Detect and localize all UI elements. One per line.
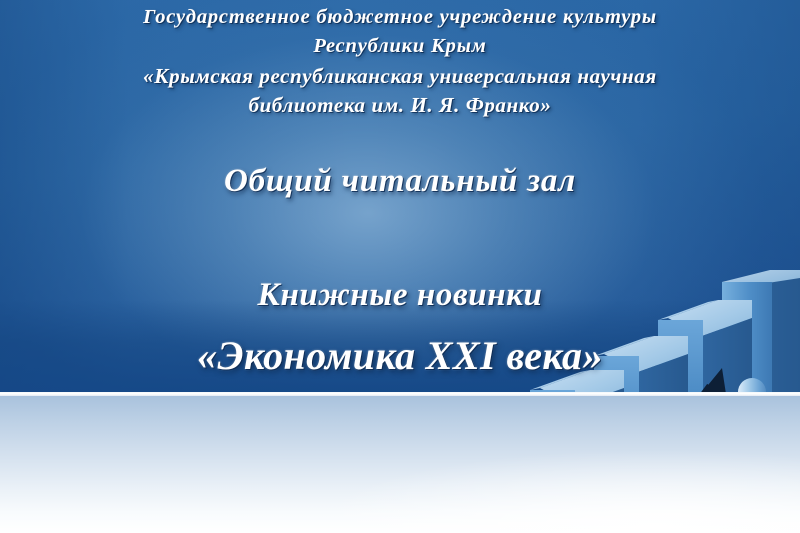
reading-hall-label: Общий читальный зал <box>0 163 800 200</box>
poster-root: Государственное бюджетное учреждение кул… <box>0 0 800 533</box>
organization-line-2: Республики Крым <box>0 35 800 58</box>
organization-line-1: Государственное бюджетное учреждение кул… <box>0 6 800 29</box>
organization-line-4: библиотека им. И. Я. Франко» <box>0 93 800 118</box>
poster-subtitle: Книжные новинки <box>0 277 800 314</box>
text-layer: Государственное бюджетное учреждение кул… <box>0 0 800 533</box>
poster-title: «Экономика XXI века» <box>0 332 800 379</box>
organization-line-3: «Крымская республиканская универсальная … <box>0 64 800 89</box>
